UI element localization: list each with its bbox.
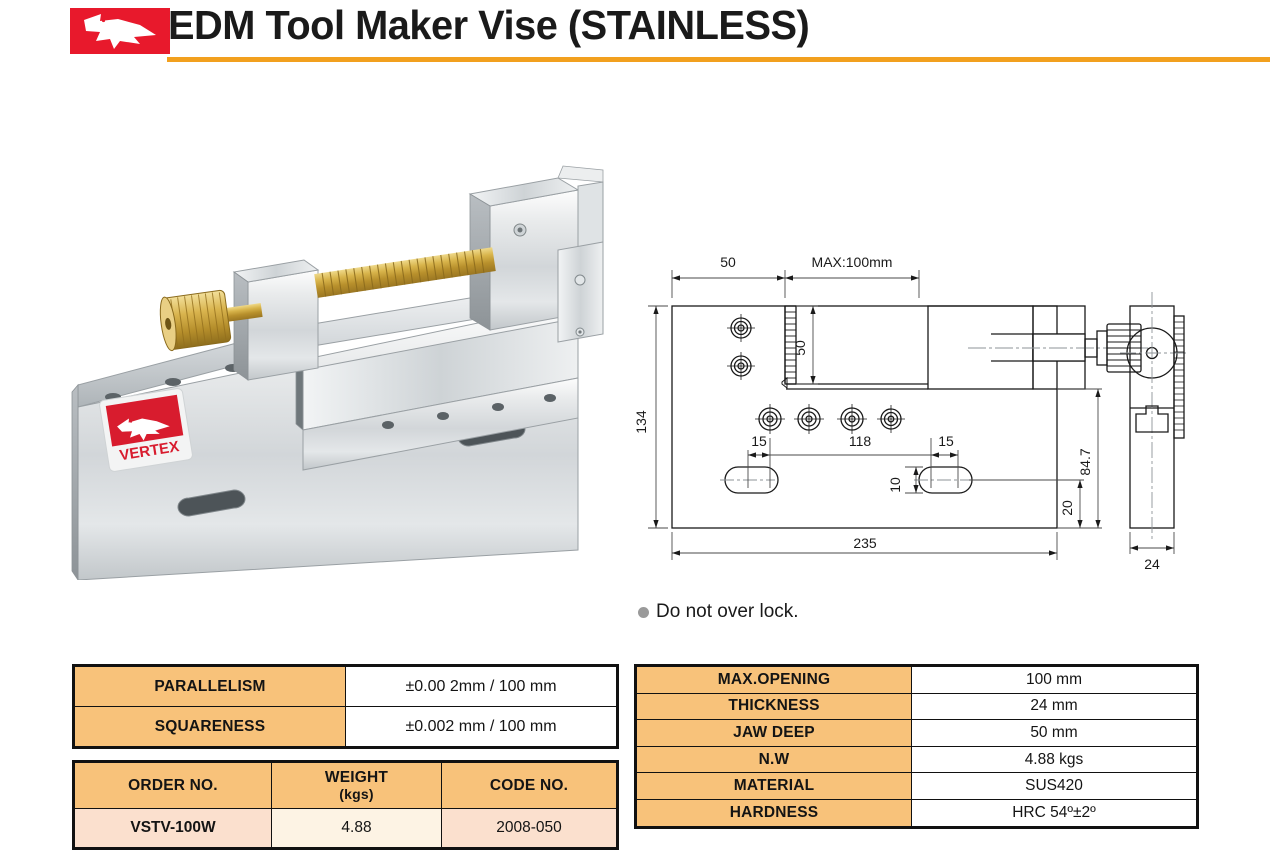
weight-header-unit: (kgs) [272,787,441,801]
dim-slot-edge-right: 15 [938,433,954,449]
material-label: MATERIAL [636,773,912,800]
squareness-label: SQUARENESS [74,707,346,748]
dim-overall-length: 235 [853,535,877,551]
weight-header-main: WEIGHT [272,770,441,787]
dim-center-height: 84.7 [1077,448,1093,475]
vertex-eagle-logo-icon [70,8,170,54]
order-no-value: VSTV-100W [74,809,272,849]
material-value: SUS420 [912,773,1198,800]
parallelism-label: PARALLELISM [74,666,346,707]
net-weight-value: 4.88 kgs [912,746,1198,773]
hardness-label: HARDNESS [636,799,912,827]
weight-value: 4.88 [272,809,442,849]
dim-slot-spacing: 118 [849,433,872,449]
page-title: EDM Tool Maker Vise (STAINLESS) [168,2,809,49]
max-opening-label: MAX.OPENING [636,666,912,694]
dim-max-opening: MAX:100mm [812,254,893,270]
note-bullet-icon [638,607,649,618]
thickness-label: THICKNESS [636,693,912,720]
screw-symbol [877,405,905,433]
parallelism-value: ±0.00 2mm / 100 mm [346,666,618,707]
brass-lead-screw [314,247,496,298]
product-photo: VERTEX [58,130,638,580]
table-row: JAW DEEP 50 mm [636,720,1198,747]
dim-overall-height: 134 [633,410,649,434]
dim-base-height: 20 [1059,500,1075,516]
table-row: THICKNESS 24 mm [636,693,1198,720]
front-view-outline [672,306,1057,528]
vertex-brand-sticker: VERTEX [99,388,193,472]
screw-symbol [755,404,785,434]
hardness-value: HRC 54º±2º [912,799,1198,827]
note-text: Do not over lock. [656,601,799,623]
title-underline-rule [167,57,1270,62]
specs-table: MAX.OPENING 100 mm THICKNESS 24 mm JAW D… [634,664,1199,829]
screw-symbol [727,314,755,342]
tolerance-table: PARALLELISM ±0.00 2mm / 100 mm SQUARENES… [72,664,619,749]
order-no-header: ORDER NO. [74,762,272,809]
screw-symbol [727,352,755,380]
screw-symbol [794,404,824,434]
jaw-deep-label: JAW DEEP [636,720,912,747]
code-no-header: CODE NO. [442,762,618,809]
weight-header: WEIGHT (kgs) [272,762,442,809]
jaw-deep-value: 50 mm [912,720,1198,747]
table-row: N.W 4.88 kgs [636,746,1198,773]
net-weight-label: N.W [636,746,912,773]
table-row: SQUARENESS ±0.002 mm / 100 mm [74,707,618,748]
dim-jaw-deep: 50 [792,340,808,356]
code-no-value: 2008-050 [442,809,618,849]
technical-drawing: 50 MAX:100mm 15 118 15 235 24 134 50 84.… [628,248,1268,578]
slot-symbol [720,467,778,493]
thickness-value: 24 mm [912,693,1198,720]
table-row: MATERIAL SUS420 [636,773,1198,800]
dim-jaw-offset: 50 [720,254,736,270]
screw-symbol [837,404,867,434]
slot-symbol [914,467,972,493]
squareness-value: ±0.002 mm / 100 mm [346,707,618,748]
max-opening-value: 100 mm [912,666,1198,694]
note-row: Do not over lock. [638,601,799,623]
table-row: MAX.OPENING 100 mm [636,666,1198,694]
table-row: VSTV-100W 4.88 2008-050 [74,809,618,849]
table-row: PARALLELISM ±0.00 2mm / 100 mm [74,666,618,707]
page-header: EDM Tool Maker Vise (STAINLESS) [0,0,1274,72]
dim-slot-edge-left: 15 [751,433,767,449]
dim-side-width: 24 [1144,556,1160,572]
order-table: ORDER NO. WEIGHT (kgs) CODE NO. VSTV-100… [72,760,619,850]
table-header-row: ORDER NO. WEIGHT (kgs) CODE NO. [74,762,618,809]
table-row: HARDNESS HRC 54º±2º [636,799,1198,827]
dim-slot-width: 10 [887,477,903,493]
